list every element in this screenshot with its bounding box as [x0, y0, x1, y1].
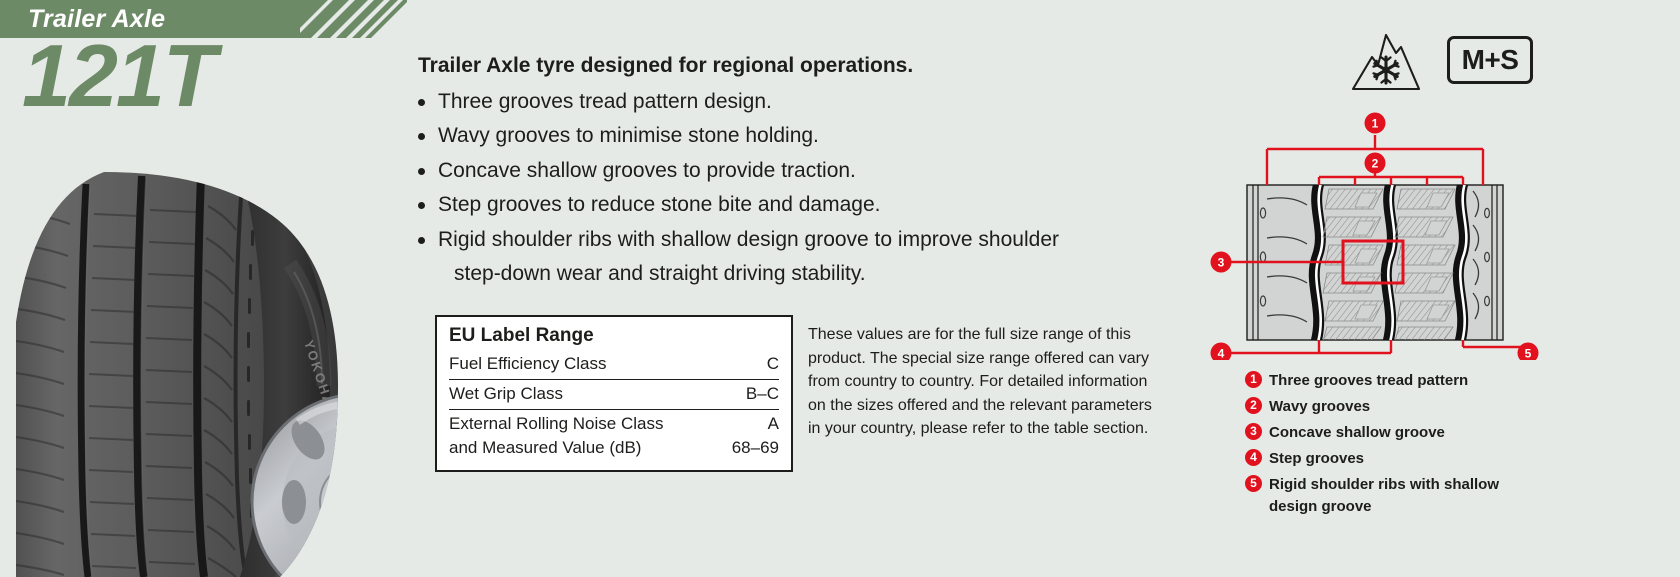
table-row: Fuel Efficiency Class C: [449, 350, 779, 380]
feature-list: Three grooves tread pattern design. Wavy…: [418, 85, 1148, 292]
row-value: A: [768, 412, 779, 436]
legend-number-badge: 5: [1245, 475, 1262, 492]
feature-text: Concave shallow grooves to provide tract…: [438, 159, 856, 182]
list-item: Concave shallow grooves to provide tract…: [418, 154, 1148, 188]
svg-text:5: 5: [1525, 347, 1532, 361]
row-value: B–C: [732, 382, 779, 406]
row-label: External Rolling Noise Class: [449, 412, 663, 436]
legend-number-badge: 4: [1245, 449, 1262, 466]
legend-number-badge: 3: [1245, 423, 1262, 440]
legend-label: Three grooves tread pattern: [1269, 370, 1468, 392]
tread-legend: 1 Three grooves tread pattern 2 Wavy gro…: [1245, 370, 1565, 522]
bullet-icon: [418, 168, 425, 175]
legend-label: Wavy grooves: [1269, 396, 1370, 418]
three-peak-mountain-snowflake-icon: [1348, 31, 1424, 93]
mud-and-snow-badge: M+S: [1447, 36, 1533, 84]
svg-text:1: 1: [1372, 117, 1379, 131]
bullet-icon: [418, 202, 425, 209]
tread-pattern-diagram: 1 2 3 4 5: [1195, 105, 1555, 360]
row-value-continued: 68–69: [732, 436, 779, 460]
list-item: 2 Wavy grooves: [1245, 396, 1565, 418]
banner-diagonal-stripes: [232, 0, 407, 38]
list-item: Step grooves to reduce stone bite and da…: [418, 188, 1148, 222]
row-label: Wet Grip Class: [449, 382, 563, 406]
row-label-continued: and Measured Value (dB): [449, 436, 641, 460]
bullet-icon: [418, 99, 425, 106]
feature-text: Wavy grooves to minimise stone holding.: [438, 124, 819, 147]
svg-text:4: 4: [1218, 347, 1225, 361]
eu-label-range-table: EU Label Range Fuel Efficiency Class C W…: [435, 315, 793, 472]
legend-label-line2: design groove: [1269, 496, 1499, 518]
banner-label: Trailer Axle: [28, 5, 165, 34]
size-range-note: These values are for the full size range…: [808, 323, 1156, 441]
bullet-icon: [418, 133, 425, 140]
feature-text-continued: step-down wear and straight driving stab…: [438, 257, 1148, 291]
list-item: 4 Step grooves: [1245, 448, 1565, 470]
table-row: External Rolling Noise Class A and Measu…: [449, 410, 779, 461]
description-block: Trailer Axle tyre designed for regional …: [418, 52, 1148, 292]
list-item: 1 Three grooves tread pattern: [1245, 370, 1565, 392]
feature-text: Step grooves to reduce stone bite and da…: [438, 193, 880, 216]
list-item: Three grooves tread pattern design.: [418, 85, 1148, 119]
legend-label: Concave shallow groove: [1269, 422, 1445, 444]
feature-text: Rigid shoulder ribs with shallow design …: [438, 228, 1059, 251]
list-item: Wavy grooves to minimise stone holding.: [418, 119, 1148, 153]
model-number: 121T: [22, 32, 215, 120]
legend-label: Step grooves: [1269, 448, 1364, 470]
table-row: Wet Grip Class B–C: [449, 380, 779, 410]
legend-label: Rigid shoulder ribs with shallow design …: [1269, 474, 1499, 517]
svg-text:2: 2: [1372, 157, 1379, 171]
legend-number-badge: 1: [1245, 371, 1262, 388]
row-label: Fuel Efficiency Class: [449, 352, 606, 376]
tyre-product-photo: YOKOHAMA 385/55R22.5: [8, 172, 408, 577]
bullet-icon: [418, 237, 425, 244]
product-spec-sheet: Trailer Axle 121T: [0, 0, 1680, 577]
list-item: 3 Concave shallow groove: [1245, 422, 1565, 444]
svg-text:3: 3: [1218, 256, 1225, 270]
description-title: Trailer Axle tyre designed for regional …: [418, 52, 1148, 81]
legend-number-badge: 2: [1245, 397, 1262, 414]
eu-label-title: EU Label Range: [449, 324, 779, 349]
legend-label-line1: Rigid shoulder ribs with shallow: [1269, 476, 1499, 493]
row-value: C: [753, 352, 779, 376]
list-item: Rigid shoulder ribs with shallow design …: [418, 223, 1148, 292]
feature-text: Three grooves tread pattern design.: [438, 90, 772, 113]
list-item: 5 Rigid shoulder ribs with shallow desig…: [1245, 474, 1565, 517]
